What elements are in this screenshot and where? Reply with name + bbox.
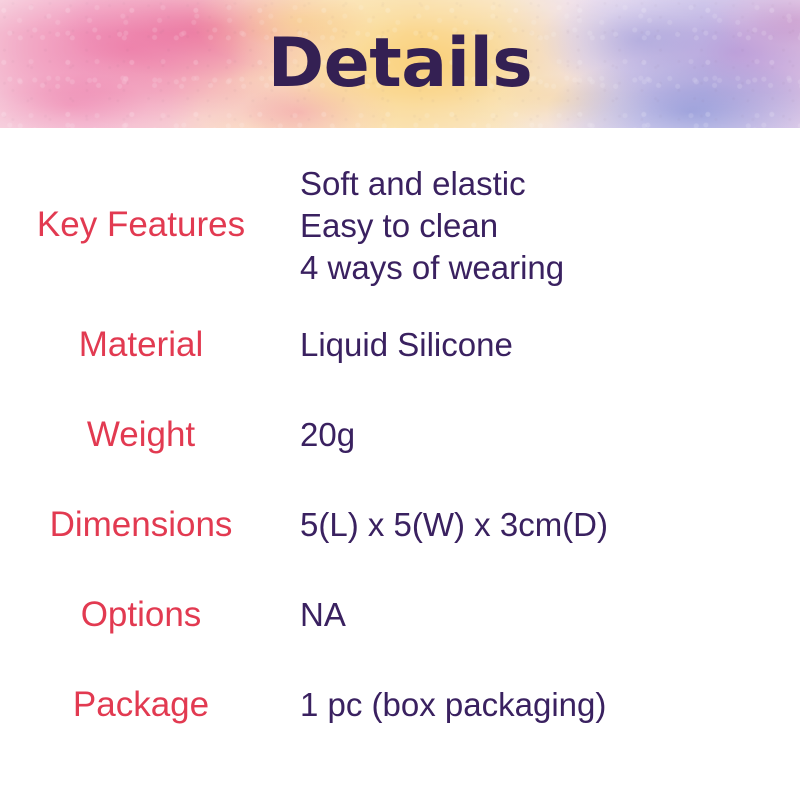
spec-value-line: Soft and elastic — [300, 163, 800, 205]
page-title: Details — [0, 30, 800, 98]
spec-value-line: 20g — [300, 414, 800, 456]
spec-table: Key Features Soft and elastic Easy to cl… — [0, 128, 800, 750]
spec-label-package: Package — [0, 684, 300, 725]
spec-value-line: 1 pc (box packaging) — [300, 684, 800, 726]
spec-value-key-features: Soft and elastic Easy to clean 4 ways of… — [300, 161, 800, 290]
header-banner: Details — [0, 0, 800, 128]
spec-row-weight: Weight 20g — [0, 390, 800, 480]
spec-value-line: NA — [300, 594, 800, 636]
details-spec-card: Details Key Features Soft and elastic Ea… — [0, 0, 800, 800]
spec-value-line: Easy to clean — [300, 205, 800, 247]
spec-label-options: Options — [0, 594, 300, 635]
spec-row-dimensions: Dimensions 5(L) x 5(W) x 3cm(D) — [0, 480, 800, 570]
spec-value-options: NA — [300, 594, 800, 636]
spec-value-line: Liquid Silicone — [300, 324, 800, 366]
spec-row-options: Options NA — [0, 570, 800, 660]
spec-label-dimensions: Dimensions — [0, 504, 300, 545]
spec-value-line: 5(L) x 5(W) x 3cm(D) — [300, 504, 800, 546]
spec-value-package: 1 pc (box packaging) — [300, 684, 800, 726]
spec-value-material: Liquid Silicone — [300, 324, 800, 366]
spec-row-package: Package 1 pc (box packaging) — [0, 660, 800, 750]
spec-label-weight: Weight — [0, 414, 300, 455]
spec-row-key-features: Key Features Soft and elastic Easy to cl… — [0, 150, 800, 300]
spec-value-line: 4 ways of wearing — [300, 247, 800, 289]
spec-label-material: Material — [0, 324, 300, 365]
spec-row-material: Material Liquid Silicone — [0, 300, 800, 390]
spec-label-key-features: Key Features — [0, 204, 300, 245]
spec-value-dimensions: 5(L) x 5(W) x 3cm(D) — [300, 504, 800, 546]
spec-value-weight: 20g — [300, 414, 800, 456]
